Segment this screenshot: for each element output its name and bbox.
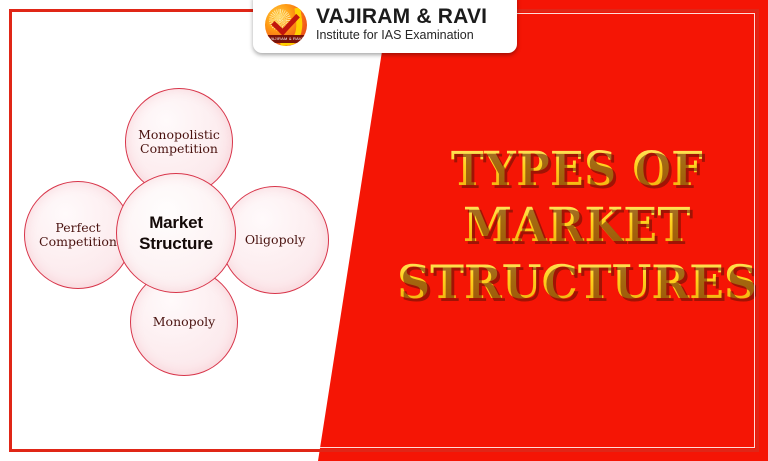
brand-tagline: Institute for IAS Examination (316, 28, 487, 43)
bubble-market-structure-center: Market Structure (116, 173, 236, 293)
poster-headline: TYPES OF MARKET STRUCTURES (386, 142, 768, 310)
bubble-label: Monopoly (149, 315, 220, 330)
brand-text-block: VAJIRAM & RAVI Institute for IAS Examina… (316, 6, 487, 43)
logo-mark-caption: VAJIRAM & RAVI (265, 35, 307, 43)
bubble-label: Monopolistic Competition (126, 128, 232, 157)
bubble-label: Oligopoly (241, 233, 309, 248)
center-label: Market Structure (117, 212, 235, 254)
headline-line-2: MARKET (397, 198, 756, 254)
market-structure-diagram: Monopolistic Competition Perfect Competi… (0, 0, 340, 461)
bubble-oligopoly: Oligopoly (221, 186, 329, 294)
vajiram-ravi-logo-icon: VAJIRAM & RAVI (265, 4, 307, 46)
headline-line-1: TYPES OF (397, 142, 756, 198)
headline-line-3: STRUCTURES (388, 254, 766, 310)
brand-name: VAJIRAM & RAVI (316, 6, 487, 28)
brand-logo-banner: VAJIRAM & RAVI VAJIRAM & RAVI Institute … (253, 0, 517, 53)
poster-canvas: Monopolistic Competition Perfect Competi… (0, 0, 768, 461)
